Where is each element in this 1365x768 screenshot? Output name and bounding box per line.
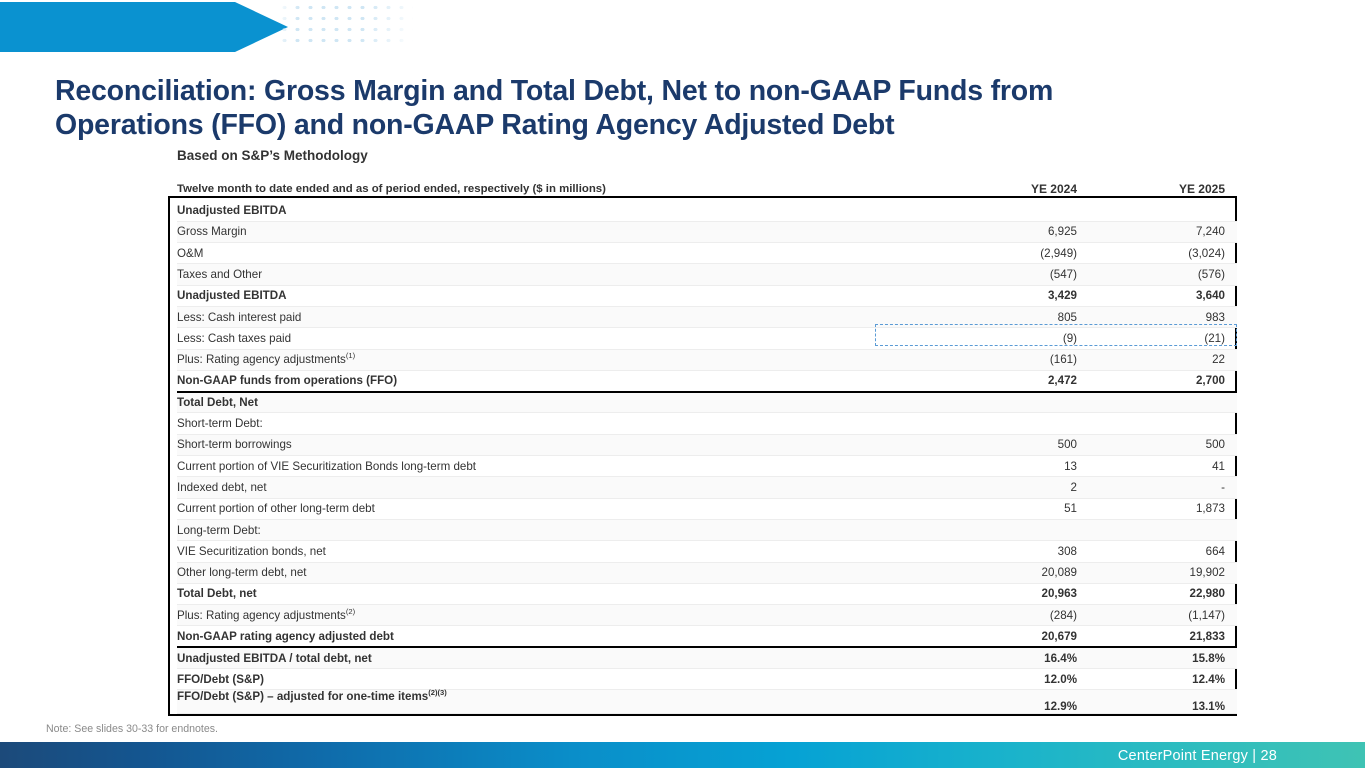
row-label: Total Debt, net — [177, 583, 917, 604]
table-caption: Twelve month to date ended and as of per… — [177, 178, 917, 200]
table-row: Total Debt, Net — [177, 392, 1237, 413]
highlight-selection-box[interactable] — [875, 324, 1237, 346]
column-header-ye2025: YE 2025 — [1077, 178, 1237, 200]
row-value-ye2024: 308 — [917, 541, 1077, 562]
row-value-ye2024: 3,429 — [917, 285, 1077, 306]
row-value-ye2025: 13.1% — [1077, 690, 1237, 714]
row-label: Long-term Debt: — [177, 519, 917, 540]
row-label: Unadjusted EBITDA — [177, 285, 917, 306]
row-value-ye2024: 20,963 — [917, 583, 1077, 604]
row-value-ye2024: (547) — [917, 264, 1077, 285]
row-value-ye2024 — [917, 413, 1077, 434]
row-value-ye2025: (3,024) — [1077, 243, 1237, 264]
row-value-ye2024: (2,949) — [917, 243, 1077, 264]
row-label: Other long-term debt, net — [177, 562, 917, 583]
financial-table: Twelve month to date ended and as of per… — [177, 178, 1237, 714]
row-value-ye2025: 21,833 — [1077, 626, 1237, 647]
row-value-ye2024: (284) — [917, 605, 1077, 626]
row-value-ye2025: 19,902 — [1077, 562, 1237, 583]
row-value-ye2025: (1,147) — [1077, 605, 1237, 626]
row-label: Taxes and Other — [177, 264, 917, 285]
page-subtitle: Based on S&P’s Methodology — [177, 148, 368, 163]
row-value-ye2025: (576) — [1077, 264, 1237, 285]
row-value-ye2025: 22,980 — [1077, 583, 1237, 604]
table-row: Plus: Rating agency adjustments(1)(161)2… — [177, 349, 1237, 370]
table-row: Non-GAAP funds from operations (FFO)2,47… — [177, 370, 1237, 391]
row-label: VIE Securitization bonds, net — [177, 541, 917, 562]
row-label: Plus: Rating agency adjustments(2) — [177, 605, 917, 626]
row-label: Non-GAAP rating agency adjusted debt — [177, 626, 917, 647]
row-value-ye2024: 12.0% — [917, 669, 1077, 690]
row-label: Current portion of VIE Securitization Bo… — [177, 456, 917, 477]
table-row: Indexed debt, net2- — [177, 477, 1237, 498]
row-label: Short-term Debt: — [177, 413, 917, 434]
footer-branding: CenterPoint Energy | 28 — [1118, 748, 1277, 764]
row-value-ye2024: 51 — [917, 498, 1077, 519]
row-value-ye2025: 1,873 — [1077, 498, 1237, 519]
table-row: Current portion of other long-term debt5… — [177, 498, 1237, 519]
table-row: VIE Securitization bonds, net308664 — [177, 541, 1237, 562]
row-label: Short-term borrowings — [177, 434, 917, 455]
table-row: Short-term Debt: — [177, 413, 1237, 434]
table-row: Short-term borrowings500500 — [177, 434, 1237, 455]
row-value-ye2024: 2 — [917, 477, 1077, 498]
table-row: Unadjusted EBITDA3,4293,640 — [177, 285, 1237, 306]
row-value-ye2025: 7,240 — [1077, 221, 1237, 242]
row-label: Less: Cash interest paid — [177, 306, 917, 327]
row-value-ye2025: 500 — [1077, 434, 1237, 455]
row-value-ye2024: 500 — [917, 434, 1077, 455]
row-label: Unadjusted EBITDA — [177, 200, 917, 221]
table-row: FFO/Debt (S&P) – adjusted for one-time i… — [177, 690, 1237, 714]
table-body: Twelve month to date ended and as of per… — [177, 178, 1237, 714]
row-value-ye2024 — [917, 200, 1077, 221]
footnote-marker: (2) — [346, 607, 355, 616]
row-value-ye2025: 12.4% — [1077, 669, 1237, 690]
row-value-ye2024: 12.9% — [917, 690, 1077, 714]
row-value-ye2024: 6,925 — [917, 221, 1077, 242]
row-value-ye2025: 41 — [1077, 456, 1237, 477]
row-value-ye2025: 2,700 — [1077, 370, 1237, 391]
row-value-ye2024 — [917, 519, 1077, 540]
table-row: Unadjusted EBITDA — [177, 200, 1237, 221]
dot-pattern-graphic — [278, 0, 413, 50]
column-header-ye2024: YE 2024 — [917, 178, 1077, 200]
table-row: Non-GAAP rating agency adjusted debt20,6… — [177, 626, 1237, 647]
row-value-ye2025 — [1077, 392, 1237, 413]
table-row: Taxes and Other(547)(576) — [177, 264, 1237, 285]
row-value-ye2024: 20,679 — [917, 626, 1077, 647]
banner-chevron-graphic — [0, 0, 290, 55]
page-title: Reconciliation: Gross Margin and Total D… — [55, 74, 1175, 142]
row-value-ye2025: 22 — [1077, 349, 1237, 370]
row-value-ye2024: 20,089 — [917, 562, 1077, 583]
row-label: Current portion of other long-term debt — [177, 498, 917, 519]
table-row: Long-term Debt: — [177, 519, 1237, 540]
row-value-ye2024: (161) — [917, 349, 1077, 370]
row-value-ye2025: 15.8% — [1077, 647, 1237, 668]
table-row: Other long-term debt, net20,08919,902 — [177, 562, 1237, 583]
footnote-marker: (1) — [346, 351, 355, 360]
table-column-header-row: Twelve month to date ended and as of per… — [177, 178, 1237, 200]
row-label: Total Debt, Net — [177, 392, 917, 413]
row-value-ye2025 — [1077, 519, 1237, 540]
row-label: Plus: Rating agency adjustments(1) — [177, 349, 917, 370]
row-value-ye2024: 16.4% — [917, 647, 1077, 668]
table-row: Plus: Rating agency adjustments(2)(284)(… — [177, 605, 1237, 626]
endnote-reference: Note: See slides 30-33 for endnotes. — [46, 723, 218, 735]
table-row: Unadjusted EBITDA / total debt, net16.4%… — [177, 647, 1237, 668]
row-value-ye2025: 664 — [1077, 541, 1237, 562]
financial-table-wrapper: Twelve month to date ended and as of per… — [177, 178, 1237, 714]
row-value-ye2025 — [1077, 200, 1237, 221]
row-value-ye2025 — [1077, 413, 1237, 434]
row-label: Non-GAAP funds from operations (FFO) — [177, 370, 917, 391]
slide: Reconciliation: Gross Margin and Total D… — [0, 0, 1365, 768]
row-label: Indexed debt, net — [177, 477, 917, 498]
row-value-ye2024 — [917, 392, 1077, 413]
row-label: FFO/Debt (S&P) – adjusted for one-time i… — [177, 690, 917, 714]
row-label: Unadjusted EBITDA / total debt, net — [177, 647, 917, 668]
row-label: FFO/Debt (S&P) — [177, 669, 917, 690]
footnote-marker: (2)(3) — [428, 688, 447, 697]
table-row: O&M(2,949)(3,024) — [177, 243, 1237, 264]
table-row: Gross Margin6,9257,240 — [177, 221, 1237, 242]
row-value-ye2024: 13 — [917, 456, 1077, 477]
table-row: Total Debt, net20,96322,980 — [177, 583, 1237, 604]
row-value-ye2025: - — [1077, 477, 1237, 498]
row-label: O&M — [177, 243, 917, 264]
table-row: Current portion of VIE Securitization Bo… — [177, 456, 1237, 477]
row-value-ye2024: 2,472 — [917, 370, 1077, 391]
row-label: Less: Cash taxes paid — [177, 328, 917, 349]
row-label: Gross Margin — [177, 221, 917, 242]
row-value-ye2025: 3,640 — [1077, 285, 1237, 306]
table-row: FFO/Debt (S&P)12.0%12.4% — [177, 669, 1237, 690]
